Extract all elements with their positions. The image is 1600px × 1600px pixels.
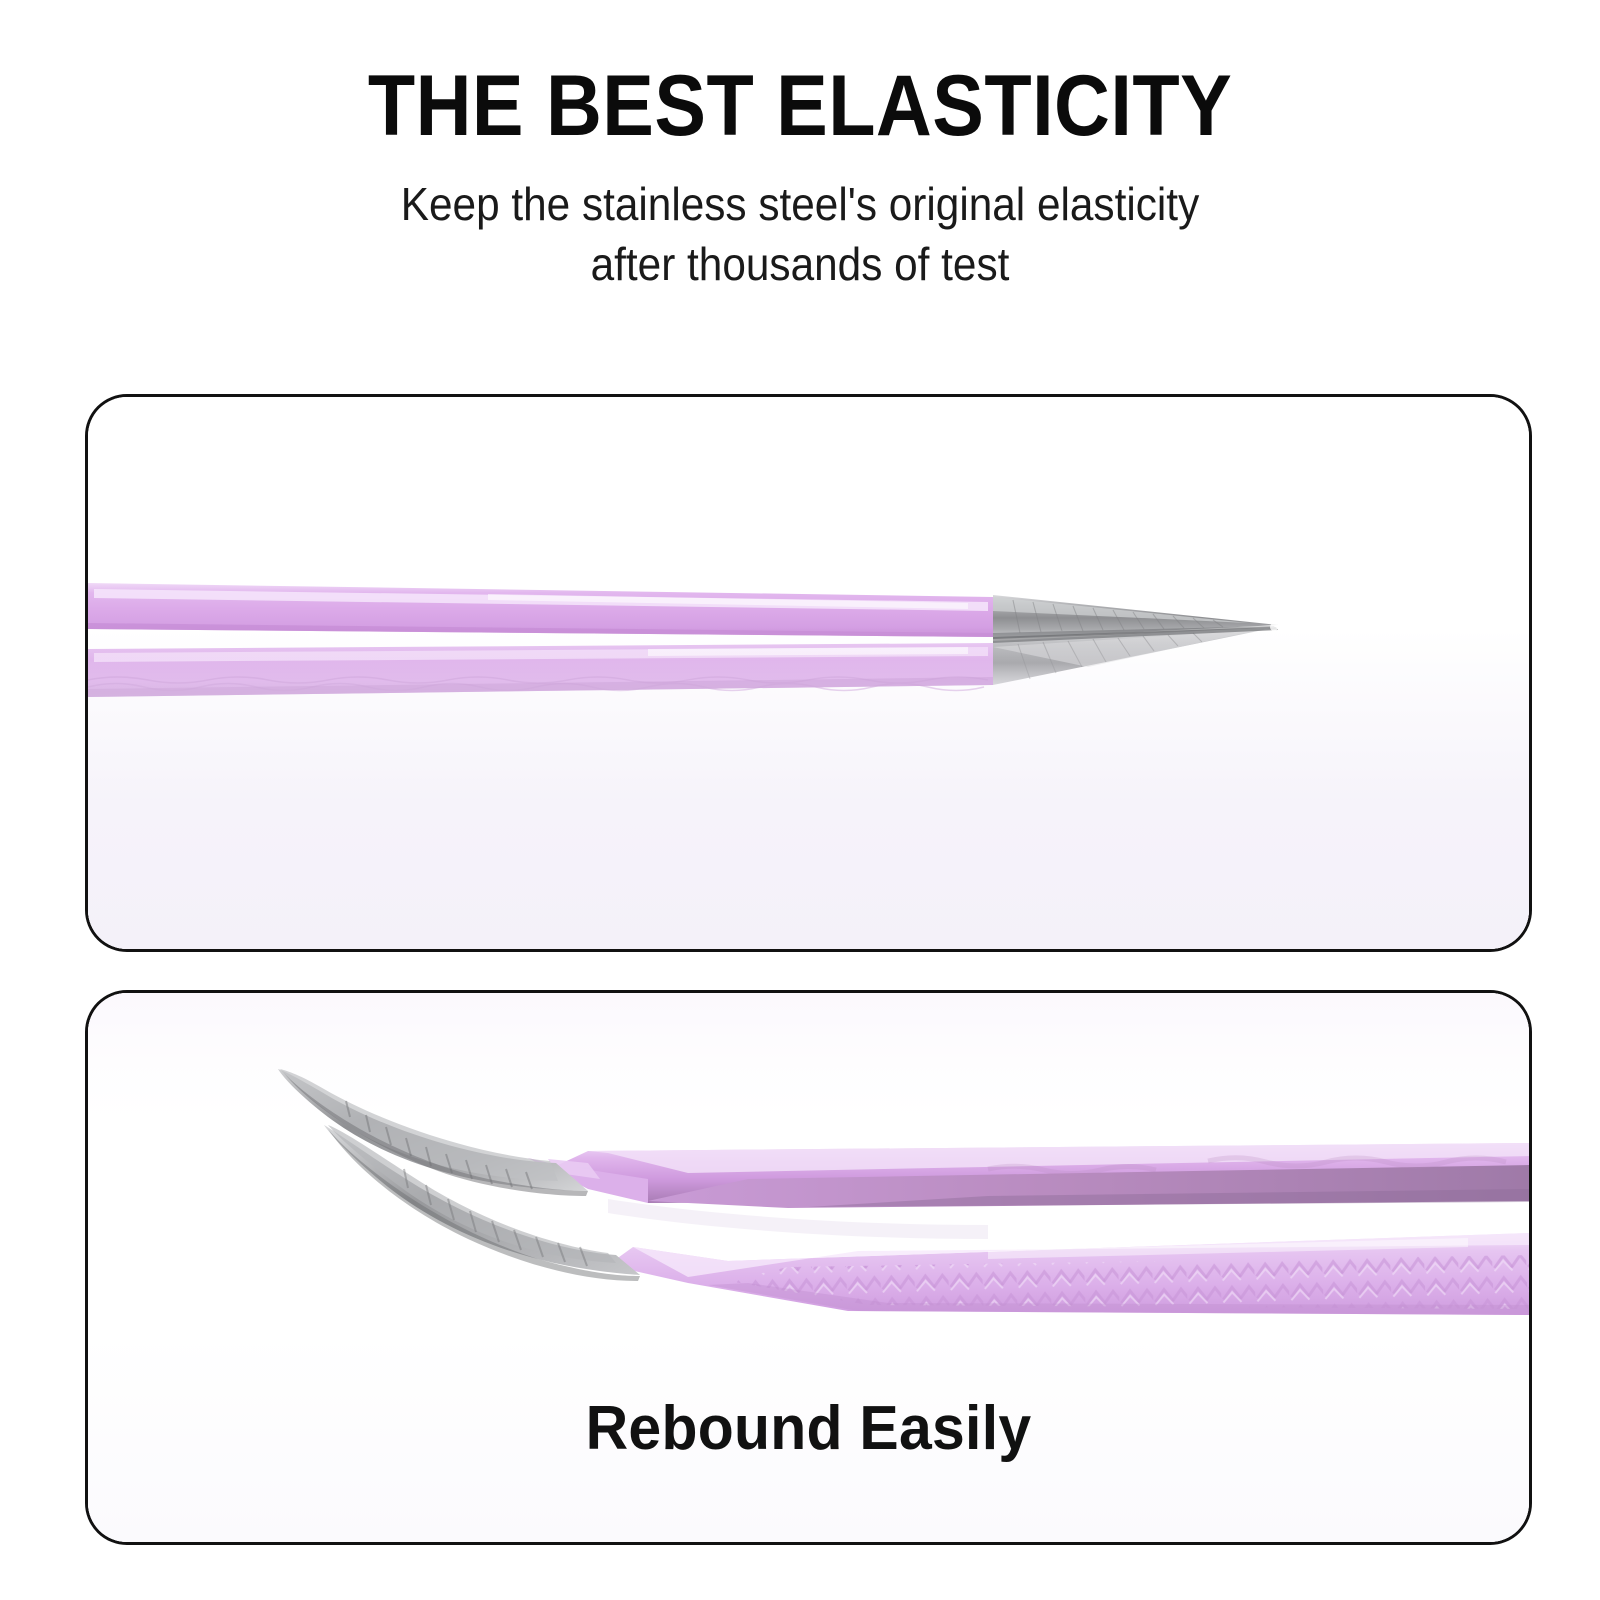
feature-card-rebound-easily: Rebound Easily — [85, 990, 1532, 1545]
page-title: THE BEST ELASTICITY — [80, 62, 1520, 151]
page-subtitle: Keep the stainless steel's original elas… — [64, 175, 1536, 295]
infographic-page: THE BEST ELASTICITY Keep the stainless s… — [0, 0, 1600, 1600]
page-subtitle-line-1: Keep the stainless steel's original elas… — [64, 175, 1536, 235]
feature-card-lower-resistance: Lower Resistance — [85, 394, 1532, 952]
tweezer-straight-tip-photo — [88, 397, 1529, 949]
header: THE BEST ELASTICITY Keep the stainless s… — [0, 0, 1600, 295]
card-label-rebound-easily: Rebound Easily — [124, 1393, 1493, 1464]
page-subtitle-line-2: after thousands of test — [64, 235, 1536, 295]
